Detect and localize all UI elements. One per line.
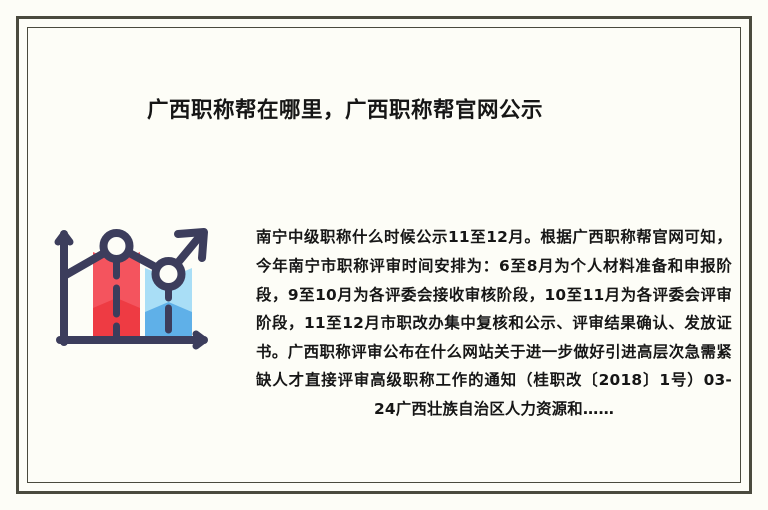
page-root: 广西职称帮在哪里，广西职称帮官网公示 xyxy=(0,0,768,510)
chart-marker-right xyxy=(156,261,182,287)
body-paragraph: 南宁中级职称什么时候公示11至12月。根据广西职称帮官网可知，今年南宁市职称评审… xyxy=(256,223,732,423)
chart-marker-left xyxy=(104,233,130,259)
page-title: 广西职称帮在哪里，广西职称帮官网公示 xyxy=(147,96,543,126)
bar-line-chart-icon xyxy=(44,216,220,356)
